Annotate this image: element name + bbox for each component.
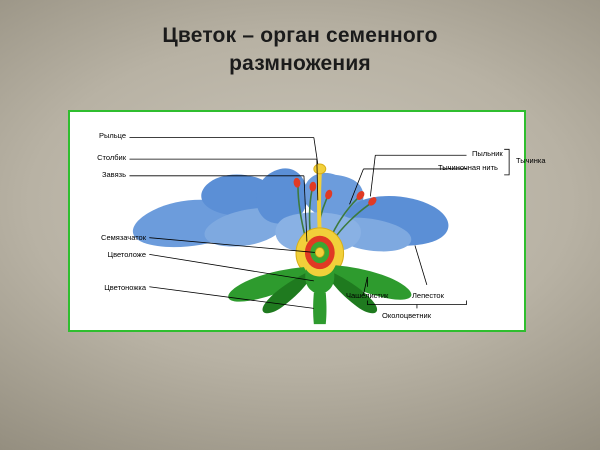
label-pedicel: Цветоножка	[74, 284, 146, 292]
slide-canvas: Цветок – орган семенного размножения	[0, 0, 600, 450]
label-style: Столбик	[80, 154, 126, 162]
ovule	[315, 248, 324, 258]
label-stigma: Рыльце	[80, 132, 126, 140]
label-receptacle: Цветоложе	[74, 251, 146, 259]
petals-group	[133, 168, 449, 254]
leader-anther-drop	[370, 155, 375, 196]
label-sepal: Чашелистик	[346, 292, 388, 300]
bracket-perianth	[367, 301, 466, 305]
label-perianth: Околоцветник	[382, 312, 431, 320]
title-line-2: размножения	[60, 50, 540, 78]
label-ovary: Завязь	[80, 171, 126, 179]
flower-structure-illustration	[70, 112, 524, 330]
label-filament: Тычиночная нить	[438, 164, 498, 172]
label-anther: Пыльник	[472, 150, 503, 158]
bracket-stamen	[504, 149, 509, 175]
pedicel	[313, 293, 326, 324]
label-petal: Лепесток	[412, 292, 444, 300]
flower-diagram-figure: Рыльце Столбик Завязь Семязачаток Цветол…	[68, 110, 526, 332]
title-line-1: Цветок – орган семенного	[60, 22, 540, 50]
label-ovule: Семязачаток	[74, 234, 146, 242]
label-stamen: Тычинка	[516, 157, 546, 165]
leader-receptacle	[149, 254, 314, 281]
page-title: Цветок – орган семенного размножения	[60, 22, 540, 79]
stigma	[314, 164, 326, 174]
style	[319, 173, 320, 235]
leader-petal	[415, 246, 427, 285]
